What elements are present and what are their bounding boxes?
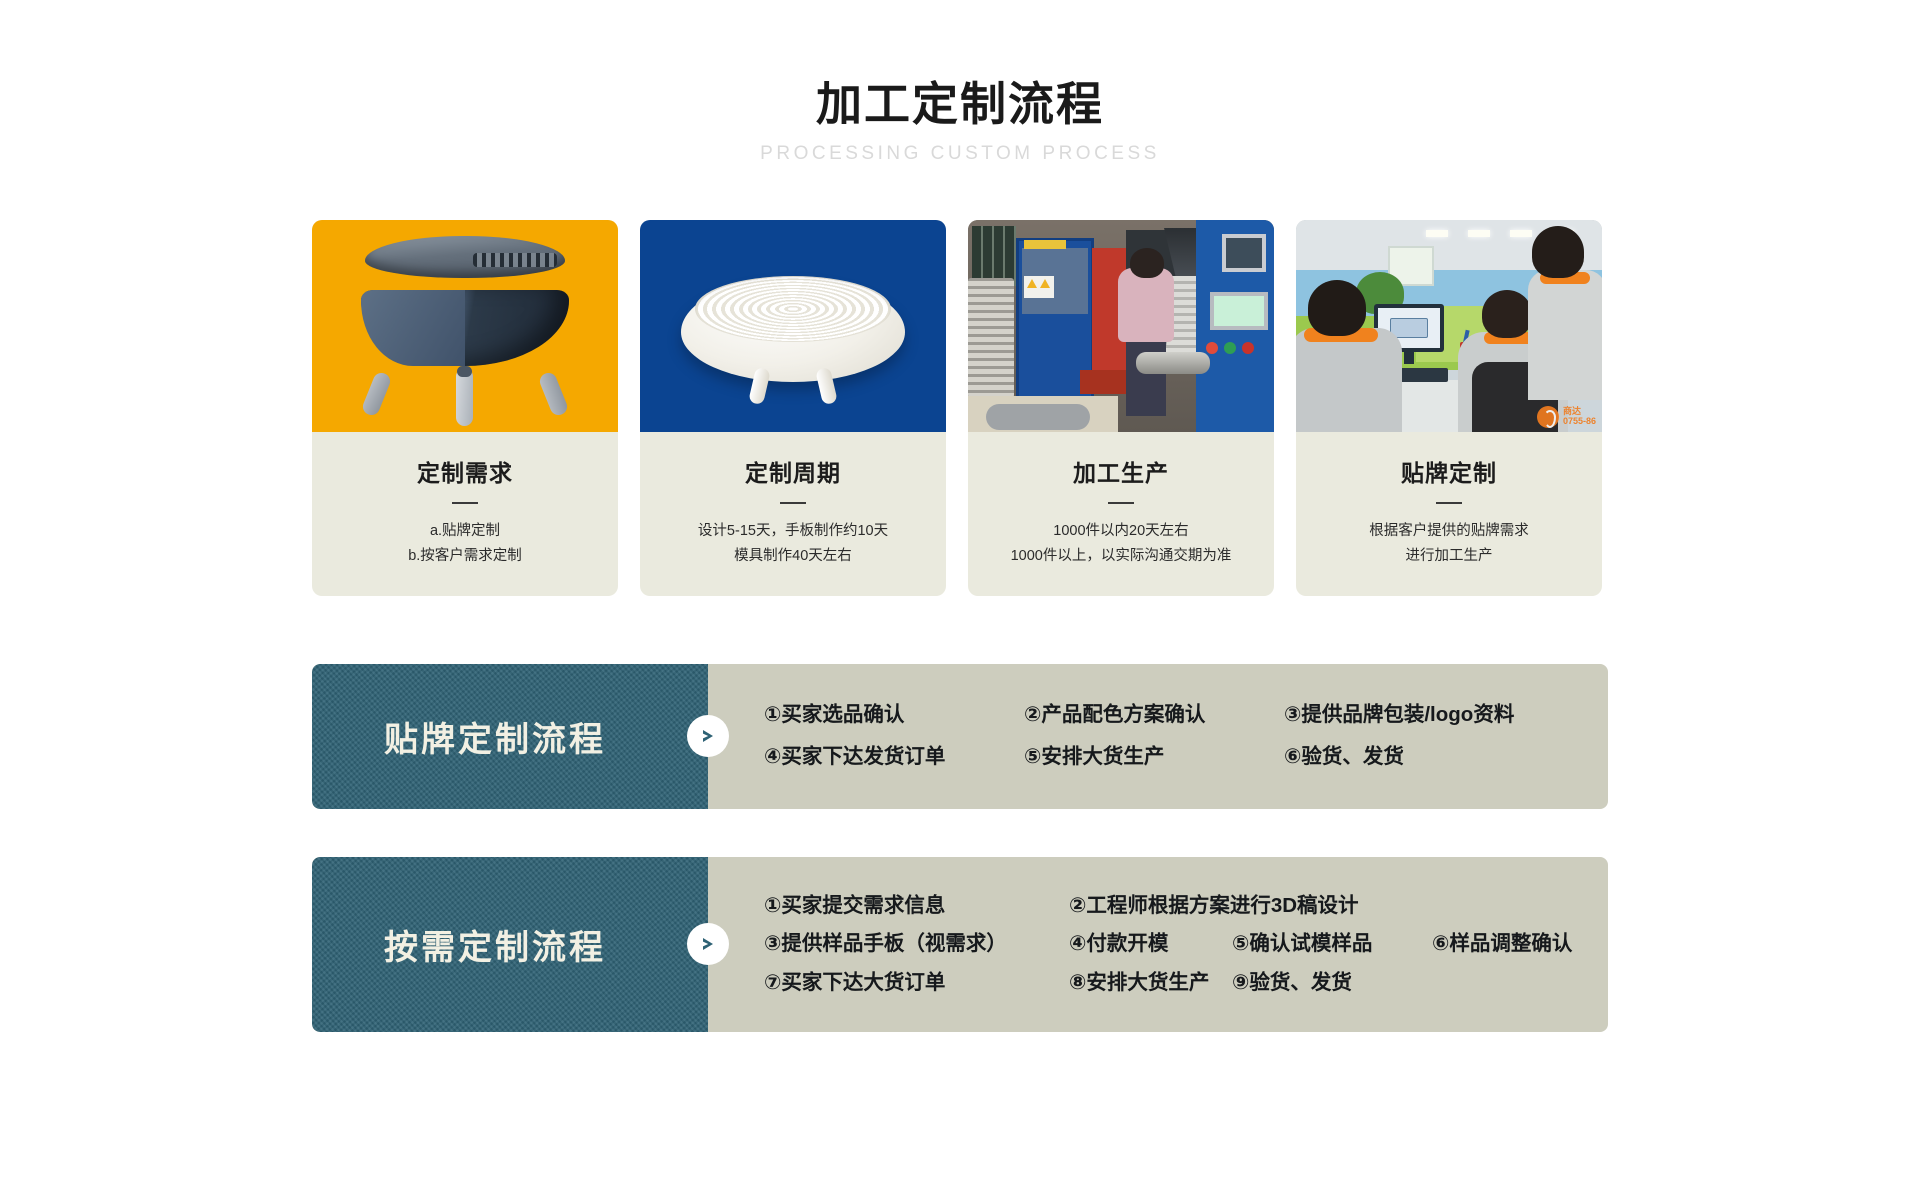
page-header: 加工定制流程 PROCESSING CUSTOM PROCESS <box>0 0 1920 165</box>
monitor-stand <box>1404 352 1414 364</box>
person-right-head <box>1532 226 1584 278</box>
divider <box>1436 502 1462 504</box>
flow-label-ondemand: 按需定制流程 <box>312 857 708 1033</box>
worker-head <box>1130 248 1164 278</box>
process-card-line-2: 进行加工生产 <box>1306 544 1592 569</box>
grill-lid-shape <box>365 236 565 278</box>
process-card[interactable]: 商达 0755-86 贴牌定制 根据客户提供的贴牌需求 进行加工生产 <box>1296 220 1602 596</box>
process-card[interactable]: 定制需求 a.贴牌定制 b.按客户需求定制 <box>312 220 618 596</box>
flow-step: ④付款开模 <box>1069 934 1232 955</box>
process-card-body: 定制需求 a.贴牌定制 b.按客户需求定制 <box>312 432 618 596</box>
flow-step: ③提供品牌包装/logo资料 <box>1284 705 1514 726</box>
divider <box>1108 502 1134 504</box>
divider <box>780 502 806 504</box>
machine-barrel <box>1136 352 1210 374</box>
flow-step-row: ①买家选品确认 ②产品配色方案确认 ③提供品牌包装/logo资料 <box>764 694 1574 737</box>
process-card[interactable]: 定制周期 设计5-15天，手板制作约10天 模具制作40天左右 <box>640 220 946 596</box>
flow-step: ⑥验货、发货 <box>1284 747 1404 768</box>
flow-step: ③提供样品手板（视需求） <box>764 934 1069 955</box>
molded-part <box>986 404 1090 430</box>
grill-leg-right <box>537 370 569 417</box>
flow-step: ①买家选品确认 <box>764 705 1024 726</box>
grill-leg-left <box>360 370 392 417</box>
flow-step: ②产品配色方案确认 <box>1024 705 1284 726</box>
machine-label <box>1024 240 1066 249</box>
watermark-logo-icon <box>1537 406 1559 428</box>
page-subtitle: PROCESSING CUSTOM PROCESS <box>0 143 1920 165</box>
factory-injection-molding-photo <box>968 220 1274 432</box>
person-left-torso <box>1296 328 1402 432</box>
worker-torso <box>1118 268 1174 342</box>
ceiling-light <box>1510 230 1532 237</box>
process-card-body: 贴牌定制 根据客户提供的贴牌需求 进行加工生产 <box>1296 432 1602 596</box>
flow-banner-ondemand: 按需定制流程 ①买家提交需求信息 ②工程师根据方案进行3D稿设计 ③提供样品手板… <box>312 857 1608 1033</box>
grill-leg-center <box>456 368 473 426</box>
process-card-line-2: 模具制作40天左右 <box>650 544 936 569</box>
flow-step-row: ④买家下达发货订单 ⑤安排大货生产 ⑥验货、发货 <box>764 736 1574 779</box>
flow-step: ②工程师根据方案进行3D稿设计 <box>1069 896 1232 917</box>
flow-steps-ondemand: ①买家提交需求信息 ②工程师根据方案进行3D稿设计 ③提供样品手板（视需求） ④… <box>708 857 1608 1033</box>
flow-step: ⑨验货、发货 <box>1232 973 1432 994</box>
factory-window <box>972 226 1016 286</box>
flow-step-row: ③提供样品手板（视需求） ④付款开模 ⑤确认试模样品 ⑥样品调整确认 <box>764 925 1574 964</box>
chevron-right-icon <box>687 715 729 757</box>
divider <box>452 502 478 504</box>
process-card-line-2: b.按客户需求定制 <box>322 544 608 569</box>
white-prototype-model-photo <box>640 220 946 432</box>
watermark-text: 商达 0755-86 <box>1563 407 1596 426</box>
flow-step: ①买家提交需求信息 <box>764 896 1069 917</box>
grill-bowl-shape <box>361 290 569 366</box>
process-card-line-1: 根据客户提供的贴牌需求 <box>1306 519 1592 544</box>
control-buttons <box>1206 342 1266 358</box>
company-watermark: 商达 0755-86 <box>1537 406 1596 428</box>
person-center-head <box>1482 290 1532 338</box>
process-card-body: 定制周期 设计5-15天，手板制作约10天 模具制作40天左右 <box>640 432 946 596</box>
flow-step: ⑦买家下达大货订单 <box>764 973 1069 994</box>
flow-step: ⑤确认试模样品 <box>1232 934 1432 955</box>
watermark-line-2: 0755-86 <box>1563 417 1596 426</box>
process-card-body: 加工生产 1000件以内20天左右 1000件以上，以实际沟通交期为准 <box>968 432 1274 596</box>
process-card-line-1: 设计5-15天，手板制作约10天 <box>650 519 936 544</box>
flow-step-row: ⑦买家下达大货订单 ⑧安排大货生产 ⑨验货、发货 <box>764 964 1574 1003</box>
flow-banner-oem: 贴牌定制流程 ①买家选品确认 ②产品配色方案确认 ③提供品牌包装/logo资料 … <box>312 664 1608 809</box>
flow-step: ⑥样品调整确认 <box>1432 934 1572 955</box>
worker-legs <box>1126 338 1166 416</box>
process-card-list: 定制需求 a.贴牌定制 b.按客户需求定制 定制周期 设计5-15天，手板制作约… <box>312 220 1608 596</box>
flow-step: ④买家下达发货订单 <box>764 747 1024 768</box>
process-card-line-1: 1000件以内20天左右 <box>978 519 1264 544</box>
stacked-parts <box>968 278 1014 398</box>
process-card-title: 贴牌定制 <box>1306 454 1592 488</box>
flow-step: ⑧安排大货生产 <box>1069 973 1232 994</box>
ceiling-light <box>1426 230 1448 237</box>
flow-label-oem: 贴牌定制流程 <box>312 664 708 809</box>
process-card-line-2: 1000件以上，以实际沟通交期为准 <box>978 544 1264 569</box>
flow-step-row: ①买家提交需求信息 ②工程师根据方案进行3D稿设计 <box>764 887 1574 926</box>
design-office-team-photo: 商达 0755-86 <box>1296 220 1602 432</box>
flow-label-text: 贴牌定制流程 <box>384 712 636 761</box>
warning-sign-icon <box>1024 276 1054 298</box>
person-right-torso <box>1528 270 1602 400</box>
processing-custom-process-page: 加工定制流程 PROCESSING CUSTOM PROCESS 定制需求 a.… <box>0 0 1920 1200</box>
process-card-title: 加工生产 <box>978 454 1264 488</box>
process-card-title: 定制需求 <box>322 454 608 488</box>
flow-steps-oem: ①买家选品确认 ②产品配色方案确认 ③提供品牌包装/logo资料 ④买家下达发货… <box>708 664 1608 809</box>
person-left-head <box>1308 280 1366 336</box>
process-card-title: 定制周期 <box>650 454 936 488</box>
process-card-line-1: a.贴牌定制 <box>322 519 608 544</box>
process-card[interactable]: 加工生产 1000件以内20天左右 1000件以上，以实际沟通交期为准 <box>968 220 1274 596</box>
prototype-lid-shape <box>695 276 891 342</box>
exploded-grill-product-photo <box>312 220 618 432</box>
control-display-upper <box>1222 234 1266 272</box>
ceiling-light <box>1468 230 1490 237</box>
flow-label-text: 按需定制流程 <box>384 920 636 969</box>
page-title: 加工定制流程 <box>0 78 1920 131</box>
control-display-lower <box>1210 292 1268 330</box>
flow-step: ⑤安排大货生产 <box>1024 747 1284 768</box>
